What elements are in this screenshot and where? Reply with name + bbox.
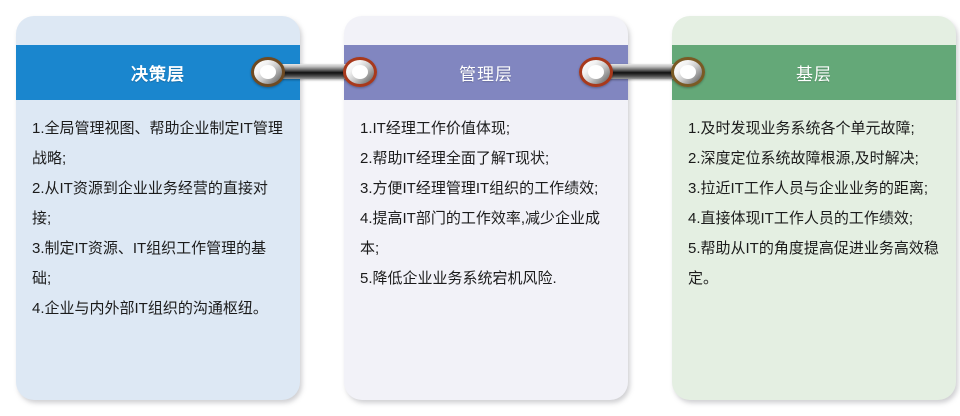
panel-grassroots-header: 基层 bbox=[672, 45, 956, 100]
list-item: 3.拉近IT工作人员与企业业务的距离; bbox=[688, 174, 940, 204]
list-item: 2.从IT资源到企业业务经营的直接对接; bbox=[32, 174, 284, 234]
three-tier-diagram: 决策层 1.全局管理视图、帮助企业制定IT管理战略; 2.从IT资源到企业业务经… bbox=[0, 0, 960, 416]
chain-eyelet-left-icon bbox=[251, 57, 285, 87]
panel-grassroots-title: 基层 bbox=[796, 60, 832, 85]
chain-eyelet-left-icon bbox=[579, 57, 613, 87]
list-item: 2.帮助IT经理全面了解T现状; bbox=[360, 144, 612, 174]
panel-decision-body: 1.全局管理视图、帮助企业制定IT管理战略; 2.从IT资源到企业业务经营的直接… bbox=[16, 100, 300, 334]
chain-eyelet-right-icon bbox=[343, 57, 377, 87]
list-item: 4.直接体现IT工作人员的工作绩效; bbox=[688, 204, 940, 234]
panel-management-title: 管理层 bbox=[459, 60, 513, 85]
panel-grassroots: 基层 1.及时发现业务系统各个单元故障; 2.深度定位系统故障根源,及时解决; … bbox=[672, 16, 956, 400]
list-item: 2.深度定位系统故障根源,及时解决; bbox=[688, 144, 940, 174]
list-item: 5.降低企业业务系统宕机风险. bbox=[360, 264, 612, 294]
list-item: 4.提高IT部门的工作效率,减少企业成本; bbox=[360, 204, 612, 264]
panel-grassroots-body: 1.及时发现业务系统各个单元故障; 2.深度定位系统故障根源,及时解决; 3.拉… bbox=[672, 100, 956, 304]
list-item: 4.企业与内外部IT组织的沟通枢纽。 bbox=[32, 294, 284, 324]
list-item: 1.全局管理视图、帮助企业制定IT管理战略; bbox=[32, 114, 284, 174]
panel-management-body: 1.IT经理工作价值体现; 2.帮助IT经理全面了解T现状; 3.方便IT经理管… bbox=[344, 100, 628, 304]
list-item: 5.帮助从IT的角度提高促进业务高效稳定。 bbox=[688, 234, 940, 294]
list-item: 1.及时发现业务系统各个单元故障; bbox=[688, 114, 940, 144]
connector-management-to-grassroots bbox=[579, 57, 705, 87]
panel-decision-title: 决策层 bbox=[131, 60, 185, 85]
chain-eyelet-right-icon bbox=[671, 57, 705, 87]
connector-decision-to-management bbox=[251, 57, 377, 87]
list-item: 1.IT经理工作价值体现; bbox=[360, 114, 612, 144]
list-item: 3.方便IT经理管理IT组织的工作绩效; bbox=[360, 174, 612, 204]
list-item: 3.制定IT资源、IT组织工作管理的基础; bbox=[32, 234, 284, 294]
